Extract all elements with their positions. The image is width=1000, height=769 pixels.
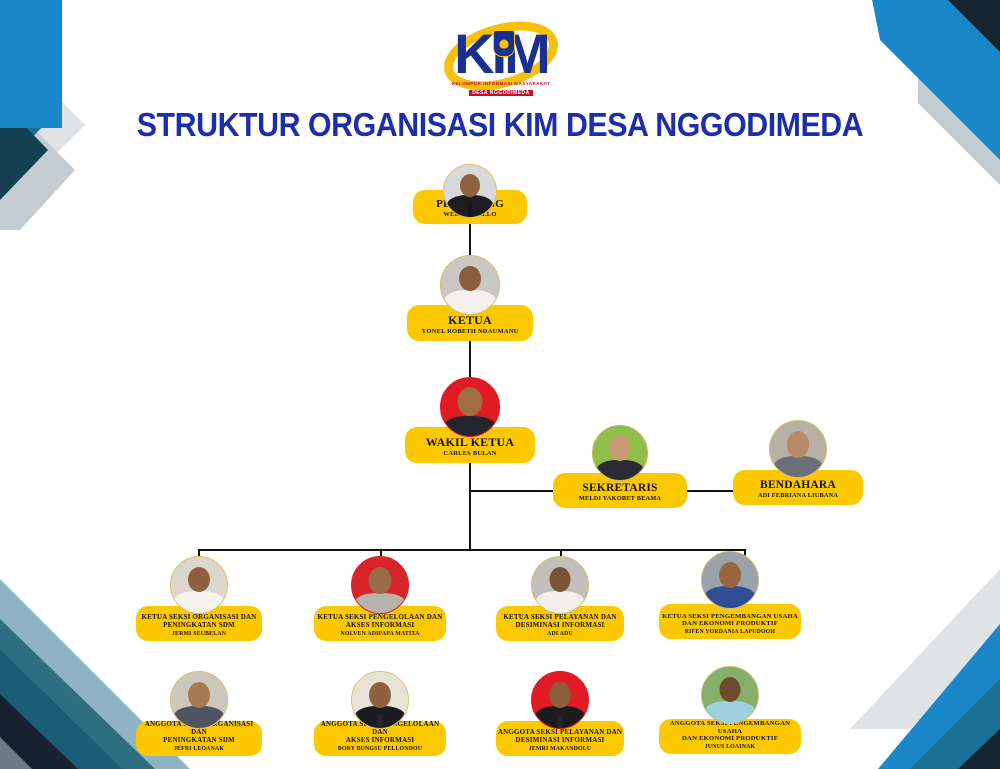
avatar-section-head-4 xyxy=(701,551,759,609)
node-pelindung[interactable]: PELINDUNG WELKIS BALLO xyxy=(413,164,527,224)
avatar-sekretaris xyxy=(592,425,648,481)
card-section-member-4[interactable]: ANGGOTA SEKSI PENGEMBANGAN USAHA DAN EKO… xyxy=(659,719,801,754)
node-section-head-2[interactable]: KETUA SEKSI PENGELOLAAN DAN AKSES INFORM… xyxy=(314,556,446,641)
node-section-member-2[interactable]: ANGGOTA SEKSI PENGELOLAAN DAN AKSES INFO… xyxy=(314,671,446,756)
node-section-head-4[interactable]: KETUA SEKSI PENGEMBANGAN USAHA DAN EKONO… xyxy=(659,551,801,639)
person-name: JEMRI MAKANDOLU xyxy=(529,746,591,752)
avatar-bendahara xyxy=(769,420,827,478)
node-section-member-4[interactable]: ANGGOTA SEKSI PENGEMBANGAN USAHA DAN EKO… xyxy=(659,666,801,754)
role-label-line2: AKSES INFORMASI xyxy=(346,737,415,745)
role-label-line2: DAN EKONOMI PRODUKTIF xyxy=(682,620,778,628)
avatar-wakil-ketua xyxy=(440,377,500,437)
avatar-section-member-3 xyxy=(531,671,589,729)
avatar-section-head-1 xyxy=(170,556,228,614)
role-label: SEKRETARIS xyxy=(582,482,657,495)
person-name: JERMI SEUBELAN xyxy=(172,631,226,637)
role-label-line1: KETUA SEKSI PENGEMBANGAN USAHA xyxy=(662,613,798,621)
node-ketua[interactable]: KETUA YONEL ROBETH NDAUMANU xyxy=(407,255,533,341)
deco-shape-navy xyxy=(0,694,78,769)
deco-shape-grey xyxy=(0,737,32,769)
deco-shape-blue xyxy=(0,649,122,769)
node-wakil-ketua[interactable]: WAKIL KETUA CARLES BULAN xyxy=(405,377,535,463)
avatar-section-head-2 xyxy=(351,556,409,614)
role-label-line2: DESIMINASI INFORMASI xyxy=(516,622,605,630)
node-sekretaris[interactable]: SEKRETARIS MELDI YAKOBET BEAMA xyxy=(553,425,687,508)
node-bendahara[interactable]: BENDAHARA ADI FEBRIANA LIUBANA xyxy=(733,420,863,505)
node-section-head-3[interactable]: KETUA SEKSI PELAYANAN DAN DESIMINASI INF… xyxy=(496,556,624,641)
connector-wakil-trunk xyxy=(469,463,471,550)
person-name: JEFRI LEOANAK xyxy=(174,746,224,752)
person-name: ADI FEBRIANA LIUBANA xyxy=(758,492,838,499)
person-name: MELDI YAKOBET BEAMA xyxy=(579,495,661,502)
node-section-member-3[interactable]: ANGGOTA SEKSI PELAYANAN DAN DESIMINASI I… xyxy=(496,671,624,756)
role-label: BENDAHARA xyxy=(760,479,836,492)
person-name: BOBY BUNGSU PELLONDOU xyxy=(338,746,422,752)
role-label-line2: PENINGKATAN SDM xyxy=(163,737,235,745)
deco-shape-teal xyxy=(910,679,1000,769)
avatar-ketua xyxy=(440,255,500,315)
logo-emblem xyxy=(493,30,515,57)
role-label: KETUA xyxy=(448,314,492,327)
role-label-line2: PENINGKATAN SDM xyxy=(163,622,235,630)
person-name: ADI ADU xyxy=(547,631,573,637)
deco-shape-white-notch xyxy=(868,0,880,40)
role-label-line2: AKSES INFORMASI xyxy=(346,622,415,630)
page-title: STRUKTUR ORGANISASI KIM DESA NGGODIMEDA xyxy=(40,106,960,144)
org-chart-poster: KIM KELOMPOK INFORMASI MASYARAKAT DESA N… xyxy=(0,0,1000,769)
deco-shape-teal xyxy=(0,619,155,769)
avatar-pelindung xyxy=(443,164,497,218)
avatar-section-member-2 xyxy=(351,671,409,729)
logo-tagline-line2: DESA NGGODIMEDA xyxy=(469,90,533,96)
person-name: YONEL ROBETH NDAUMANU xyxy=(421,328,518,335)
role-label-line2: DESIMINASI INFORMASI xyxy=(516,737,605,745)
card-section-head-4[interactable]: KETUA SEKSI PENGEMBANGAN USAHA DAN EKONO… xyxy=(659,604,801,639)
deco-shape-blue xyxy=(878,624,1000,769)
person-name: RIFEN YORDANIA LAPUDOOH xyxy=(685,629,775,635)
role-label-line2: DAN EKONOMI PRODUKTIF xyxy=(682,735,778,743)
person-name: CARLES BULAN xyxy=(443,450,496,457)
decoration-bottom-right xyxy=(790,529,1000,769)
node-section-head-1[interactable]: KETUA SEKSI ORGANISASI DAN PENINGKATAN S… xyxy=(136,556,262,641)
avatar-section-member-1 xyxy=(170,671,228,729)
node-section-member-1[interactable]: ANGGOTA SEKSI ORGANISASI DAN PENINGKATAN… xyxy=(136,671,262,756)
kim-logo: KIM KELOMPOK INFORMASI MASYARAKAT DESA N… xyxy=(431,16,571,104)
deco-shape-navy xyxy=(958,729,1000,769)
role-label: WAKIL KETUA xyxy=(426,436,515,449)
deco-shape-grey xyxy=(850,569,1000,729)
avatar-section-member-4 xyxy=(701,666,759,724)
person-name: NOLVEN ADIPAPA MATITA xyxy=(341,631,420,637)
avatar-section-head-3 xyxy=(531,556,589,614)
deco-shape-navy xyxy=(948,0,1000,52)
person-name: JUNUS LOAINAK xyxy=(705,744,755,750)
